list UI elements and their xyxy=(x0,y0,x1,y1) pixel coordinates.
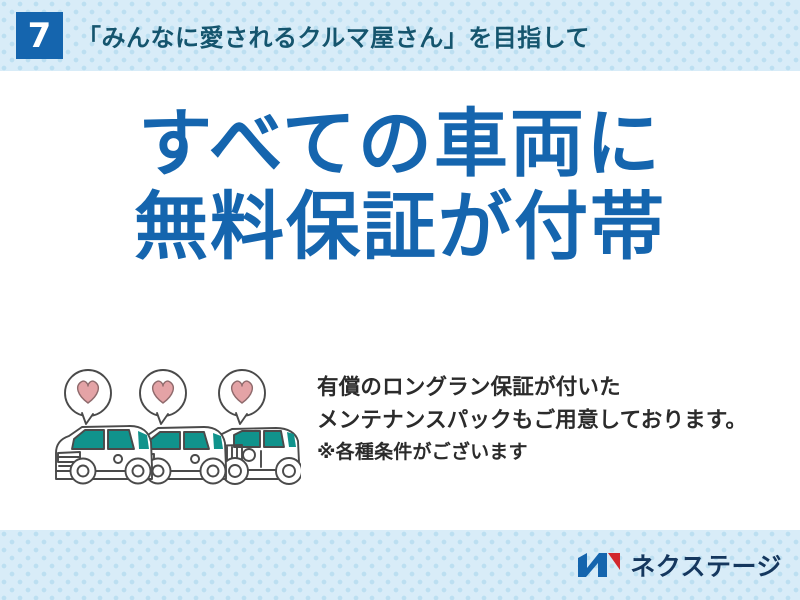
body-copy: 有償のロングラン保証が付いた メンテナンスパックもご用意しております。 ※各種条… xyxy=(317,371,772,467)
body-line-1: 有償のロングラン保証が付いた xyxy=(317,371,772,404)
headline-line-2: 無料保証が付帯 xyxy=(0,186,800,269)
heart-bubble-1 xyxy=(65,370,111,424)
headline: すべての車両に 無料保証が付帯 xyxy=(0,103,800,269)
warranty-banner: 7 「みんなに愛されるクルマ屋さん」を目指して すべての車両に 無料保証が付帯 xyxy=(0,0,800,600)
cars-illustration xyxy=(46,367,301,489)
headline-line-1: すべての車両に xyxy=(0,103,800,186)
three-cars-with-hearts-svg xyxy=(46,367,301,489)
heart-bubble-3 xyxy=(219,370,265,424)
banner-main: すべての車両に 無料保証が付帯 xyxy=(0,71,800,530)
body-line-2: メンテナンスパックもご用意しております。 xyxy=(317,404,772,437)
nextage-logo: ネクステージ xyxy=(577,547,782,583)
lower-row: 有償のロングラン保証が付いた メンテナンスパックもご用意しております。 ※各種条… xyxy=(0,363,800,489)
banner-header: 7 「みんなに愛されるクルマ屋さん」を目指して xyxy=(0,0,800,71)
car-kei-wagon xyxy=(56,426,152,484)
step-number-badge: 7 xyxy=(16,12,63,59)
nextage-n-logo-icon xyxy=(577,551,621,579)
header-title: 「みんなに愛されるクルマ屋さん」を目指して xyxy=(77,18,590,53)
nextage-logo-text: ネクステージ xyxy=(630,547,782,583)
banner-footer: ネクステージ xyxy=(0,530,800,600)
body-note: ※各種条件がございます xyxy=(317,438,772,467)
heart-bubble-2 xyxy=(140,370,186,424)
